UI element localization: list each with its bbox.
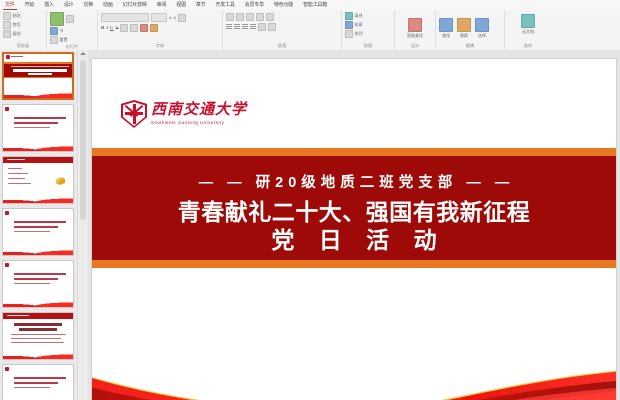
title-block[interactable]: — — 研20级地质二班党支部 — — 青春献礼二十大、强国有我新征程 党 日 … <box>92 156 616 260</box>
scrollbar-thumb[interactable] <box>80 60 86 220</box>
highlight-color-icon[interactable] <box>150 24 158 32</box>
numbered-list-icon[interactable] <box>236 13 244 21</box>
font-color-icon[interactable] <box>140 24 148 32</box>
ribbon-group-paragraph: 段落 <box>223 10 342 49</box>
thumb-wave <box>3 190 73 203</box>
italic-button[interactable]: I <box>106 25 108 32</box>
ribbon-body: 粘贴 剪切 复制 剪贴板 <box>0 10 620 49</box>
thumb-body-2 <box>14 122 58 124</box>
text-effect-icon[interactable] <box>130 24 138 32</box>
paste-button[interactable]: 粘贴 <box>3 12 21 20</box>
thumb-title1 <box>13 69 67 72</box>
logo-chinese-name: 西南交通大学 <box>151 102 247 119</box>
ribbon-tab-bar: 文件开始插入设计切换动画幻灯片放映审阅视图章节开发工具会员专享特色功能智能工具箱 <box>0 0 620 10</box>
ribbon-tab-0[interactable]: 文件 <box>3 1 17 10</box>
ribbon-group-label-clipboard: 剪贴板 <box>3 43 43 49</box>
thumb-wave <box>3 346 73 359</box>
thumbnail-scrollbar[interactable] <box>77 50 87 400</box>
thumb-wave <box>3 242 73 255</box>
application-window: 文件开始插入设计切换动画幻灯片放映审阅视图章节开发工具会员专享特色功能智能工具箱… <box>0 0 620 400</box>
slide-title-line1: 青春献礼二十大、强国有我新征程 <box>92 198 616 226</box>
current-slide[interactable]: 西南交通大学 Southwest Jiaotong University — —… <box>91 58 617 400</box>
ribbon-tab-12[interactable]: 特色功能 <box>272 1 295 9</box>
orange-band-top <box>92 148 616 156</box>
thumb-party-emblem-icon <box>56 177 65 185</box>
shape-fill-icon[interactable] <box>345 12 353 20</box>
align-center-icon[interactable] <box>234 24 240 30</box>
thumb-logo-text <box>11 56 23 58</box>
thumb-subtitle <box>11 66 69 68</box>
slide-title-line2: 党 日 活 动 <box>92 226 616 254</box>
align-right-icon[interactable] <box>242 24 248 30</box>
thumb-body-3 <box>14 387 50 388</box>
ribbon-tab-13[interactable]: 智能工具箱 <box>301 1 329 9</box>
slide-subtitle: — — 研20级地质二班党支部 — — <box>92 173 616 193</box>
ribbon-group-font: A A B I U S 字体 <box>98 10 223 49</box>
smart-beautify-icon[interactable] <box>408 18 422 32</box>
bullet-list-icon[interactable] <box>226 13 234 21</box>
ribbon-group-drawing: 填充 轮廓 排列 绘图 <box>342 10 395 49</box>
decrease-indent-icon[interactable] <box>246 13 254 21</box>
ribbon-group-editing: 查找 替换 选择 编辑 <box>436 10 505 49</box>
thumb-body-1 <box>14 273 66 275</box>
ribbon-group-label-paragraph: 段落 <box>226 43 338 49</box>
ribbon-wave-svg <box>91 349 617 400</box>
thumbnail-slide-1[interactable] <box>2 52 74 100</box>
scissors-icon <box>3 21 11 29</box>
thumbnail-slide-3[interactable] <box>2 156 74 204</box>
ribbon-tab-3[interactable]: 设计 <box>62 1 76 9</box>
ribbon-group-design: 智能美化 设计 <box>395 10 436 49</box>
underline-button[interactable]: U <box>110 25 114 32</box>
layout-icon[interactable] <box>66 15 74 23</box>
thumbnail-slide-7[interactable] <box>2 364 74 400</box>
cut-button[interactable]: 剪切 <box>3 21 21 29</box>
ribbon-tab-1[interactable]: 开始 <box>23 1 37 9</box>
section-icon[interactable] <box>50 27 58 35</box>
thumb-wave <box>3 138 73 151</box>
thumb-body-1 <box>14 377 66 379</box>
copy-icon <box>3 30 11 38</box>
thumb-item-2 <box>8 173 28 174</box>
shape-effects-icon[interactable] <box>345 30 353 38</box>
thumb-body-1 <box>14 117 66 119</box>
thumb-header-text <box>7 315 29 317</box>
ribbon-tab-7[interactable]: 审阅 <box>155 1 169 9</box>
thumbnail-slide-2[interactable] <box>2 104 74 152</box>
thumb-wave <box>3 294 73 307</box>
thumb-logo-icon <box>5 211 9 215</box>
clear-format-icon[interactable] <box>178 14 186 22</box>
thumb-body-2 <box>11 338 61 339</box>
thumb-body-1 <box>14 221 66 223</box>
thumb-logo-icon <box>5 107 9 111</box>
thumbnail-slide-4[interactable] <box>2 208 74 256</box>
ribbon-group-label-editing: 编辑 <box>439 43 501 49</box>
shield-emblem-icon <box>121 100 147 128</box>
ribbon-group-clipboard: 粘贴 剪切 复制 剪贴板 <box>0 10 47 49</box>
thumb-item-1 <box>8 168 22 169</box>
thumb-logo-icon <box>5 367 9 371</box>
thumb-logo-icon <box>6 55 10 59</box>
ribbon-tab-11[interactable]: 会员专享 <box>243 1 266 9</box>
thumb-header-text <box>7 159 25 161</box>
line-spacing-icon[interactable] <box>268 23 276 31</box>
slide-thumbnail-panel[interactable] <box>0 50 89 400</box>
thumb-orange-band-2 <box>4 77 72 79</box>
thumb-body-2 <box>14 226 58 228</box>
thumb-wave <box>4 85 72 98</box>
ribbon-group-cloud: 云文档 协作 <box>505 10 551 49</box>
scroll-up-icon[interactable] <box>80 52 86 55</box>
decrease-font-icon[interactable]: A <box>174 15 177 21</box>
new-slide-icon[interactable] <box>50 12 64 26</box>
reset-icon[interactable] <box>50 36 58 44</box>
thumbnail-slide-5[interactable] <box>2 260 74 308</box>
thumb-body-3 <box>14 283 50 284</box>
replace-icon[interactable] <box>457 18 471 32</box>
increase-font-icon[interactable]: A <box>169 15 172 21</box>
ribbon-tab-5[interactable]: 动画 <box>101 1 115 9</box>
thumb-body-3 <box>14 127 50 128</box>
font-name-input[interactable] <box>101 13 149 22</box>
thumb-body-3 <box>14 231 50 232</box>
columns-icon[interactable] <box>258 23 266 31</box>
thumb-body-1 <box>11 334 66 335</box>
red-ribbon-decoration <box>91 349 617 400</box>
ribbon-group-label-drawing: 绘图 <box>345 43 391 49</box>
ribbon-group-label-font: 字体 <box>101 43 219 49</box>
align-justify-icon[interactable] <box>250 24 256 30</box>
ribbon-tab-8[interactable]: 视图 <box>174 1 188 9</box>
thumb-logo-icon <box>5 263 9 267</box>
ribbon-group-label-design: 设计 <box>411 43 419 49</box>
logo-english-name: Southwest Jiaotong University <box>151 120 247 126</box>
thumb-body-2 <box>14 382 58 384</box>
select-icon[interactable] <box>475 18 489 32</box>
ribbon-tab-10[interactable]: 开发工具 <box>214 1 237 9</box>
ribbon-tab-4[interactable]: 切换 <box>81 1 95 9</box>
align-left-icon[interactable] <box>226 24 232 30</box>
ribbon-tab-2[interactable]: 插入 <box>42 1 56 9</box>
ribbon-tab-9[interactable]: 章节 <box>194 1 208 9</box>
thumb-item-4 <box>8 183 31 184</box>
increase-indent-icon[interactable] <box>256 13 264 21</box>
ribbon-tab-6[interactable]: 幻灯片放映 <box>121 1 149 9</box>
bold-button[interactable]: B <box>101 25 104 32</box>
ribbon-group-slides: 节 重置 幻灯片 <box>47 10 98 49</box>
thumbnail-slide-6[interactable] <box>2 312 74 360</box>
shape-outline-icon[interactable] <box>345 21 353 29</box>
paste-icon <box>3 12 11 20</box>
thumb-body-2 <box>14 278 58 280</box>
slide-canvas[interactable]: 西南交通大学 Southwest Jiaotong University — —… <box>88 50 620 400</box>
thumb-heading-2 <box>19 328 57 331</box>
ribbon: 文件开始插入设计切换动画幻灯片放映审阅视图章节开发工具会员专享特色功能智能工具箱… <box>0 0 620 51</box>
thumb-body-3 <box>11 342 64 343</box>
character-spacing-icon[interactable] <box>120 24 128 32</box>
copy-button[interactable]: 复制 <box>3 30 21 38</box>
thumbnail-list <box>2 52 76 400</box>
orange-band-bottom <box>92 260 616 268</box>
ribbon-group-label-cloud: 协作 <box>524 43 532 49</box>
find-icon[interactable] <box>439 18 453 32</box>
strikethrough-button[interactable]: S <box>116 25 119 32</box>
university-logo: 西南交通大学 Southwest Jiaotong University <box>121 100 247 128</box>
cloud-icon[interactable] <box>521 14 535 28</box>
thumb-heading-1 <box>14 323 62 326</box>
font-size-input[interactable] <box>151 13 167 22</box>
text-direction-icon[interactable] <box>266 13 274 21</box>
thumb-item-3 <box>8 178 25 179</box>
